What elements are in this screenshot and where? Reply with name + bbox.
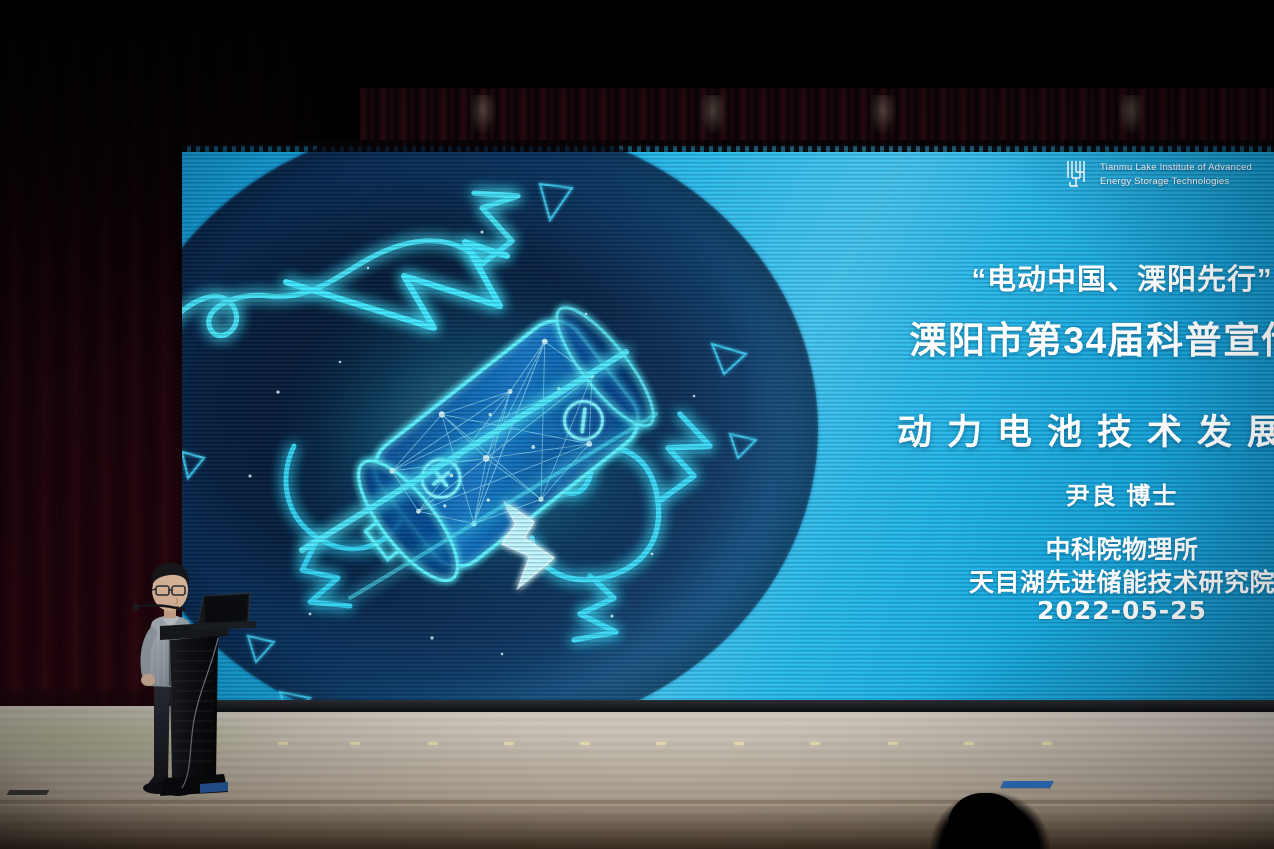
- neon-battery-artwork: [182, 146, 822, 706]
- ceiling-lamp-icon: [870, 95, 896, 133]
- screen-bottom-bezel: [182, 700, 1274, 712]
- slide-date: 2022-05-25: [872, 596, 1274, 625]
- podium-gooseneck-microphone: [133, 596, 197, 620]
- institute-logo-text: Tianmu Lake Institute of Advanced Energy…: [1100, 161, 1252, 189]
- led-screen: “电动中国、溧阳先行” 溧阳市第34届科普宣传周 动力电池技术发展及展望 尹良 …: [182, 146, 1274, 706]
- laptop-on-podium: [190, 590, 256, 632]
- slide-affiliation-2: 天目湖先进储能技术研究院: [872, 563, 1274, 599]
- presenter-hand: [141, 674, 155, 686]
- laptop-screen: [204, 595, 248, 623]
- slide-headline: 溧阳市第34届科普宣传周: [864, 310, 1274, 364]
- screen-top-edge: [182, 140, 1274, 152]
- slide-speaker: 尹良 博士: [872, 476, 1274, 511]
- audience-head-silhouette: [948, 793, 1022, 849]
- ceiling-lamp-icon: [470, 95, 496, 133]
- floor-tape-marker: [1000, 781, 1053, 788]
- institute-logo: Tianmu Lake Institute of Advanced Energy…: [1064, 152, 1274, 198]
- stage-front-shadow: [0, 806, 1274, 849]
- ceiling-lamp-icon: [700, 95, 726, 133]
- tianmu-lake-seal-emblem-icon: [1064, 158, 1090, 192]
- slide-text-block: “电动中国、溧阳先行” 溧阳市第34届科普宣传周 动力电池技术发展及展望 尹良 …: [872, 146, 1274, 706]
- stage-photograph-scene: “电动中国、溧阳先行” 溧阳市第34届科普宣传周 动力电池技术发展及展望 尹良 …: [0, 0, 1274, 849]
- stage-footlight-row: [200, 742, 1274, 748]
- floor-cable-cover: [7, 790, 50, 795]
- ceiling-lamp-icon: [1118, 95, 1144, 133]
- institute-logo-line-2: Energy Storage Technologies: [1100, 175, 1252, 189]
- slide-main-title: 动力电池技术发展及展望: [892, 404, 1274, 455]
- lectern-podium: [160, 616, 228, 798]
- slide-affiliation-1: 中科院物理所: [872, 530, 1274, 566]
- slide-kicker: “电动中国、溧阳先行”: [872, 256, 1274, 298]
- institute-logo-line-1: Tianmu Lake Institute of Advanced: [1100, 161, 1252, 175]
